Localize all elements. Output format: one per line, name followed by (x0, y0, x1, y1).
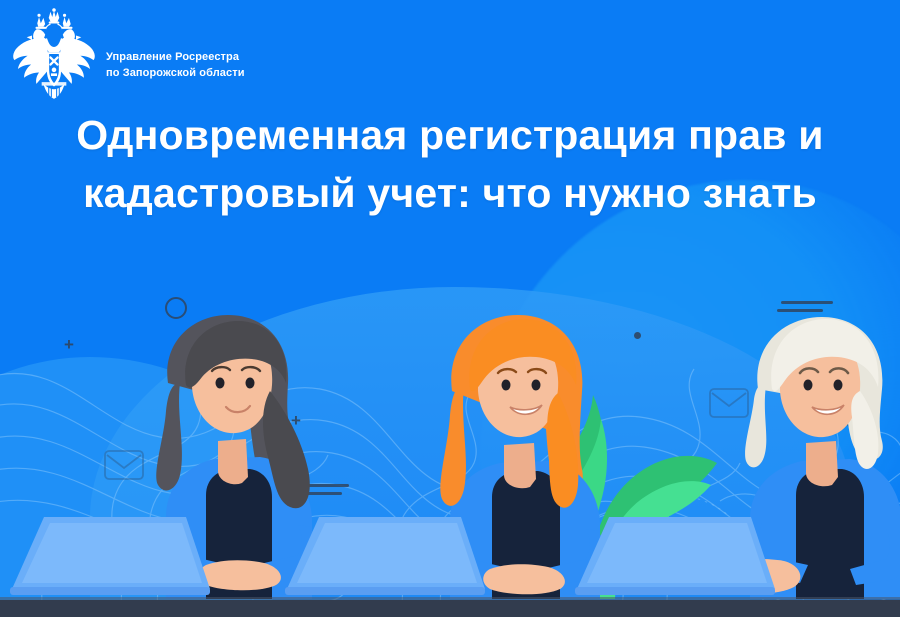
rosreestr-announcement-banner: + + + (0, 0, 900, 617)
banner-title-line-2: кадастровый учет: что нужно знать (50, 164, 850, 222)
laptop-right (575, 515, 775, 595)
desk-surface (0, 600, 900, 617)
rosreestr-double-headed-eagle-emblem (10, 8, 98, 100)
plus-decoration-left: + (64, 336, 74, 353)
organization-line-1: Управление Росреестра (106, 50, 245, 66)
organization-header: Управление Росреестра по Запорожской обл… (10, 8, 245, 100)
organization-name: Управление Росреестра по Запорожской обл… (106, 26, 245, 82)
organization-line-2: по Запорожской области (106, 66, 245, 82)
laptop-left (10, 515, 210, 595)
laptop-middle (285, 515, 485, 595)
banner-title: Одновременная регистрация прав и кадастр… (0, 106, 900, 222)
banner-title-line-1: Одновременная регистрация прав и (50, 106, 850, 164)
